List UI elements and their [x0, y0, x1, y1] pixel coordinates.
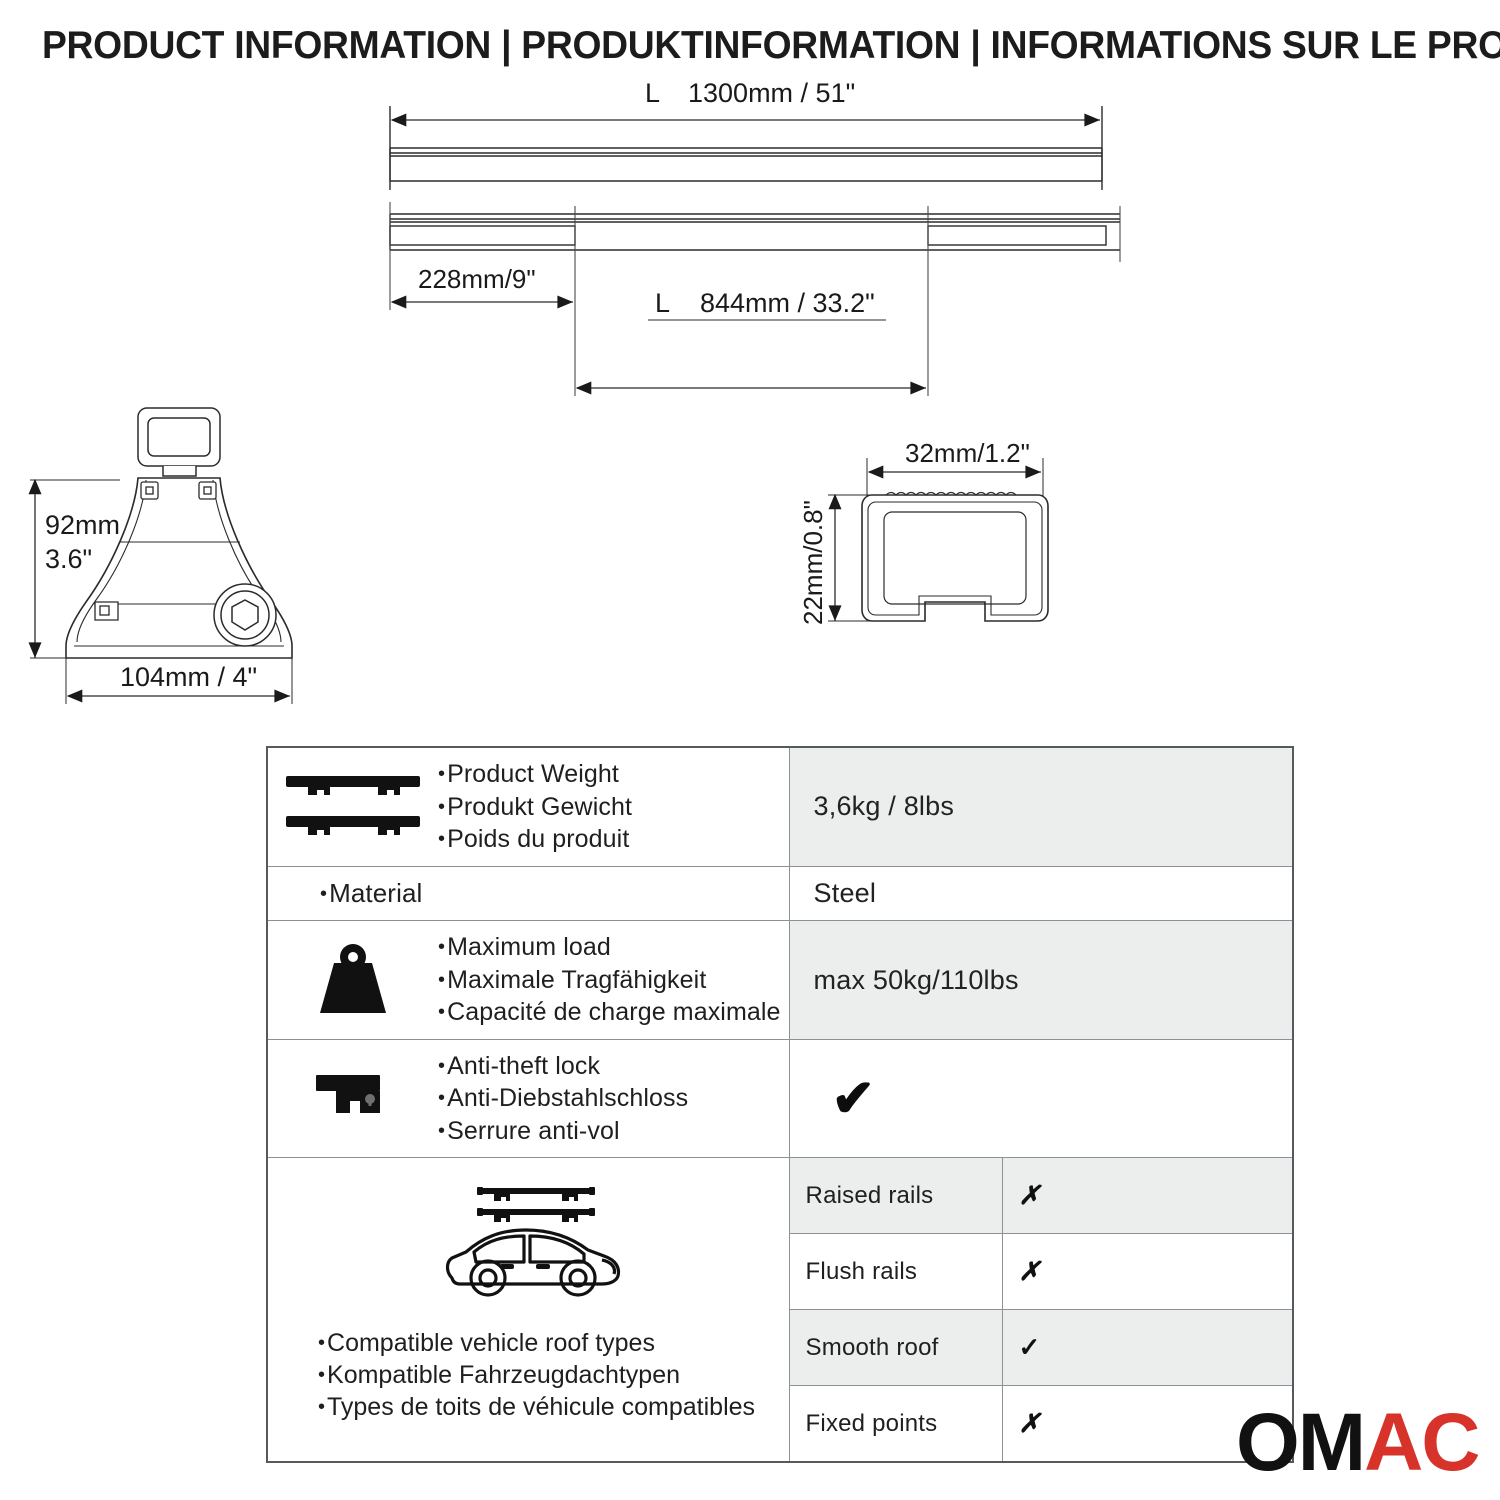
foot-offset-value: 228mm/9"	[418, 264, 536, 294]
profile-height-value: 22mm/0.8"	[798, 500, 828, 625]
table-row-product-weight: Product Weight Produkt Gewicht Poids du …	[267, 747, 1293, 866]
foot-height-line2: 3.6"	[45, 544, 92, 574]
bar-length-value: 1300mm / 51"	[688, 80, 855, 108]
weight-icon	[278, 937, 428, 1023]
anti-theft-value: ✔	[789, 1039, 1293, 1158]
roof-type-name-fixed-points: Fixed points	[789, 1386, 1002, 1463]
checkmark-icon: ✔	[814, 1070, 876, 1128]
label-en: Maximum load	[438, 931, 781, 964]
material-labels: Material	[278, 877, 781, 911]
label-de: Kompatible Fahrzeugdachtypen	[318, 1359, 755, 1391]
omac-logo: OM AC	[1236, 1402, 1479, 1484]
specification-table: Product Weight Produkt Gewicht Poids du …	[266, 746, 1294, 1463]
label-de: Produkt Gewicht	[438, 791, 632, 824]
product-information-page: PRODUCT INFORMATION | PRODUKTINFORMATION…	[0, 0, 1500, 1500]
label-material: Material	[320, 877, 781, 911]
product-weight-labels: Product Weight Produkt Gewicht Poids du …	[438, 758, 632, 856]
span-length-symbol: L	[655, 288, 670, 318]
maximum-load-label-cell: Maximum load Maximale Tragfähigkeit Capa…	[267, 921, 789, 1040]
label-en: Anti-theft lock	[438, 1050, 688, 1083]
anti-theft-label-cell: Anti-theft lock Anti-Diebstahlschloss Se…	[267, 1039, 789, 1158]
label-fr: Serrure anti-vol	[438, 1115, 688, 1148]
roof-type-mark-smooth-roof: ✓	[1002, 1310, 1293, 1386]
table-row-material: Material Steel	[267, 866, 1293, 921]
compatibility-labels: Compatible vehicle roof types Kompatible…	[282, 1327, 755, 1423]
label-fr: Capacité de charge maximale	[438, 996, 781, 1029]
table-row-compatibility-1: Compatible vehicle roof types Kompatible…	[267, 1158, 1293, 1234]
material-label-cell: Material	[267, 866, 789, 921]
technical-drawing: L 1300mm / 51" 228mm/9" L 844mm / 33.2" …	[0, 80, 1500, 740]
material-value: Steel	[789, 866, 1293, 921]
bar-length-symbol: L	[645, 80, 660, 108]
compatibility-label-cell: Compatible vehicle roof types Kompatible…	[267, 1158, 789, 1463]
title-bar: PRODUCT INFORMATION | PRODUKTINFORMATION…	[0, 0, 1500, 82]
label-en: Compatible vehicle roof types	[318, 1327, 755, 1359]
foot-height-line1: 92mm	[45, 510, 120, 540]
roof-type-mark-raised-rails: ✗	[1002, 1158, 1293, 1234]
car-with-roof-bars-icon	[426, 1178, 636, 1313]
table-row-anti-theft-lock: Anti-theft lock Anti-Diebstahlschloss Se…	[267, 1039, 1293, 1158]
label-de: Anti-Diebstahlschloss	[438, 1082, 688, 1115]
profile-width-value: 32mm/1.2"	[905, 438, 1030, 468]
logo-text-red: AC	[1364, 1402, 1478, 1484]
label-fr: Poids du produit	[438, 823, 632, 856]
product-weight-value: 3,6kg / 8lbs	[789, 747, 1293, 866]
roof-type-name-flush-rails: Flush rails	[789, 1234, 1002, 1310]
label-en: Product Weight	[438, 758, 632, 791]
roof-type-name-raised-rails: Raised rails	[789, 1158, 1002, 1234]
label-de: Maximale Tragfähigkeit	[438, 964, 781, 997]
maximum-load-labels: Maximum load Maximale Tragfähigkeit Capa…	[438, 931, 781, 1029]
roof-bars-icon	[278, 764, 428, 850]
roof-type-mark-flush-rails: ✗	[1002, 1234, 1293, 1310]
page-title: PRODUCT INFORMATION | PRODUKTINFORMATION…	[42, 24, 1500, 68]
anti-theft-labels: Anti-theft lock Anti-Diebstahlschloss Se…	[438, 1050, 688, 1148]
table-row-maximum-load: Maximum load Maximale Tragfähigkeit Capa…	[267, 921, 1293, 1040]
roof-type-name-smooth-roof: Smooth roof	[789, 1310, 1002, 1386]
product-weight-label-cell: Product Weight Produkt Gewicht Poids du …	[267, 747, 789, 866]
lock-icon	[278, 1063, 428, 1135]
logo-text-dark: OM	[1236, 1402, 1364, 1484]
span-length-value: 844mm / 33.2"	[700, 288, 875, 318]
foot-width-value: 104mm / 4"	[120, 662, 257, 692]
maximum-load-value: max 50kg/110lbs	[789, 921, 1293, 1040]
label-fr: Types de toits de véhicule compatibles	[318, 1391, 755, 1423]
